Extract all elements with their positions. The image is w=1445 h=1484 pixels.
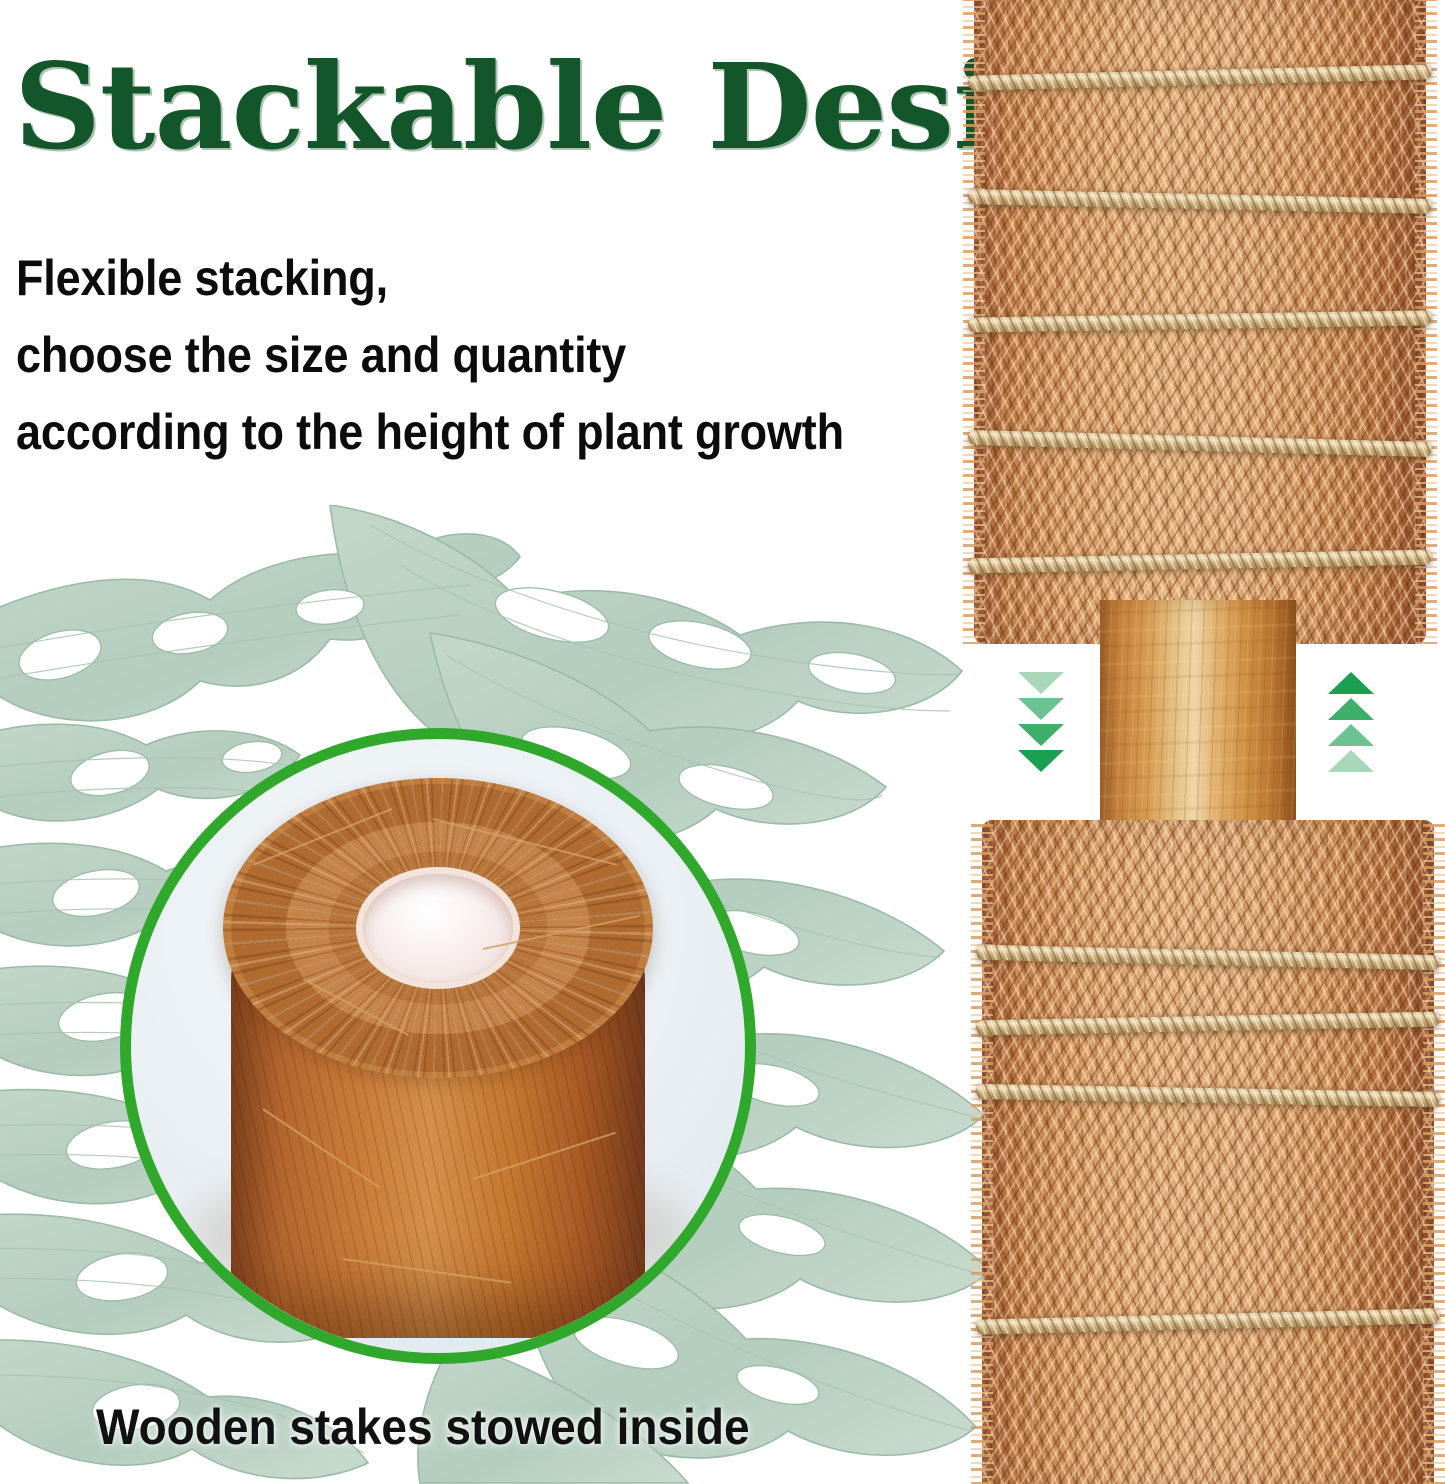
stack-up-arrows: [1328, 672, 1374, 776]
wooden-dowel-stake: [1100, 600, 1296, 850]
coir-edge-right-lower: [1423, 820, 1445, 1484]
coir-edge-left-lower: [971, 820, 993, 1484]
stack-down-arrows: [1018, 672, 1064, 776]
chevron-up-icon: [1328, 698, 1374, 720]
inset-caption: Wooden stakes stowed inside: [96, 1398, 750, 1456]
coir-texture-lower: [982, 820, 1434, 1484]
inset-photo: [131, 739, 745, 1353]
coir-roll: [223, 778, 653, 1338]
hollow-center-tube: [363, 874, 513, 982]
description-line-3: according to the height of plant growth: [16, 394, 880, 471]
chevron-up-icon: [1328, 672, 1374, 694]
coir-pole-lower-segment: [982, 820, 1434, 1484]
chevron-down-icon: [1018, 724, 1064, 746]
chevron-down-icon: [1018, 672, 1064, 694]
wood-grain-texture-cross: [1100, 600, 1296, 850]
chevron-up-icon: [1328, 724, 1374, 746]
description-text: Flexible stacking, choose the size and q…: [16, 240, 976, 471]
coir-roll-top-face: [223, 778, 653, 1078]
chevron-down-icon: [1018, 698, 1064, 720]
description-line-1: Flexible stacking,: [16, 240, 880, 317]
chevron-down-icon: [1018, 750, 1064, 772]
product-photo-column: [960, 0, 1445, 1484]
coir-pole-upper-segment: [974, 0, 1426, 644]
infographic-canvas: Stackable Design Flexible stacking, choo…: [0, 0, 1445, 1484]
chevron-up-icon: [1328, 750, 1374, 772]
description-line-2: choose the size and quantity: [16, 317, 880, 394]
coir-pole-top-view-inset: [120, 728, 756, 1364]
